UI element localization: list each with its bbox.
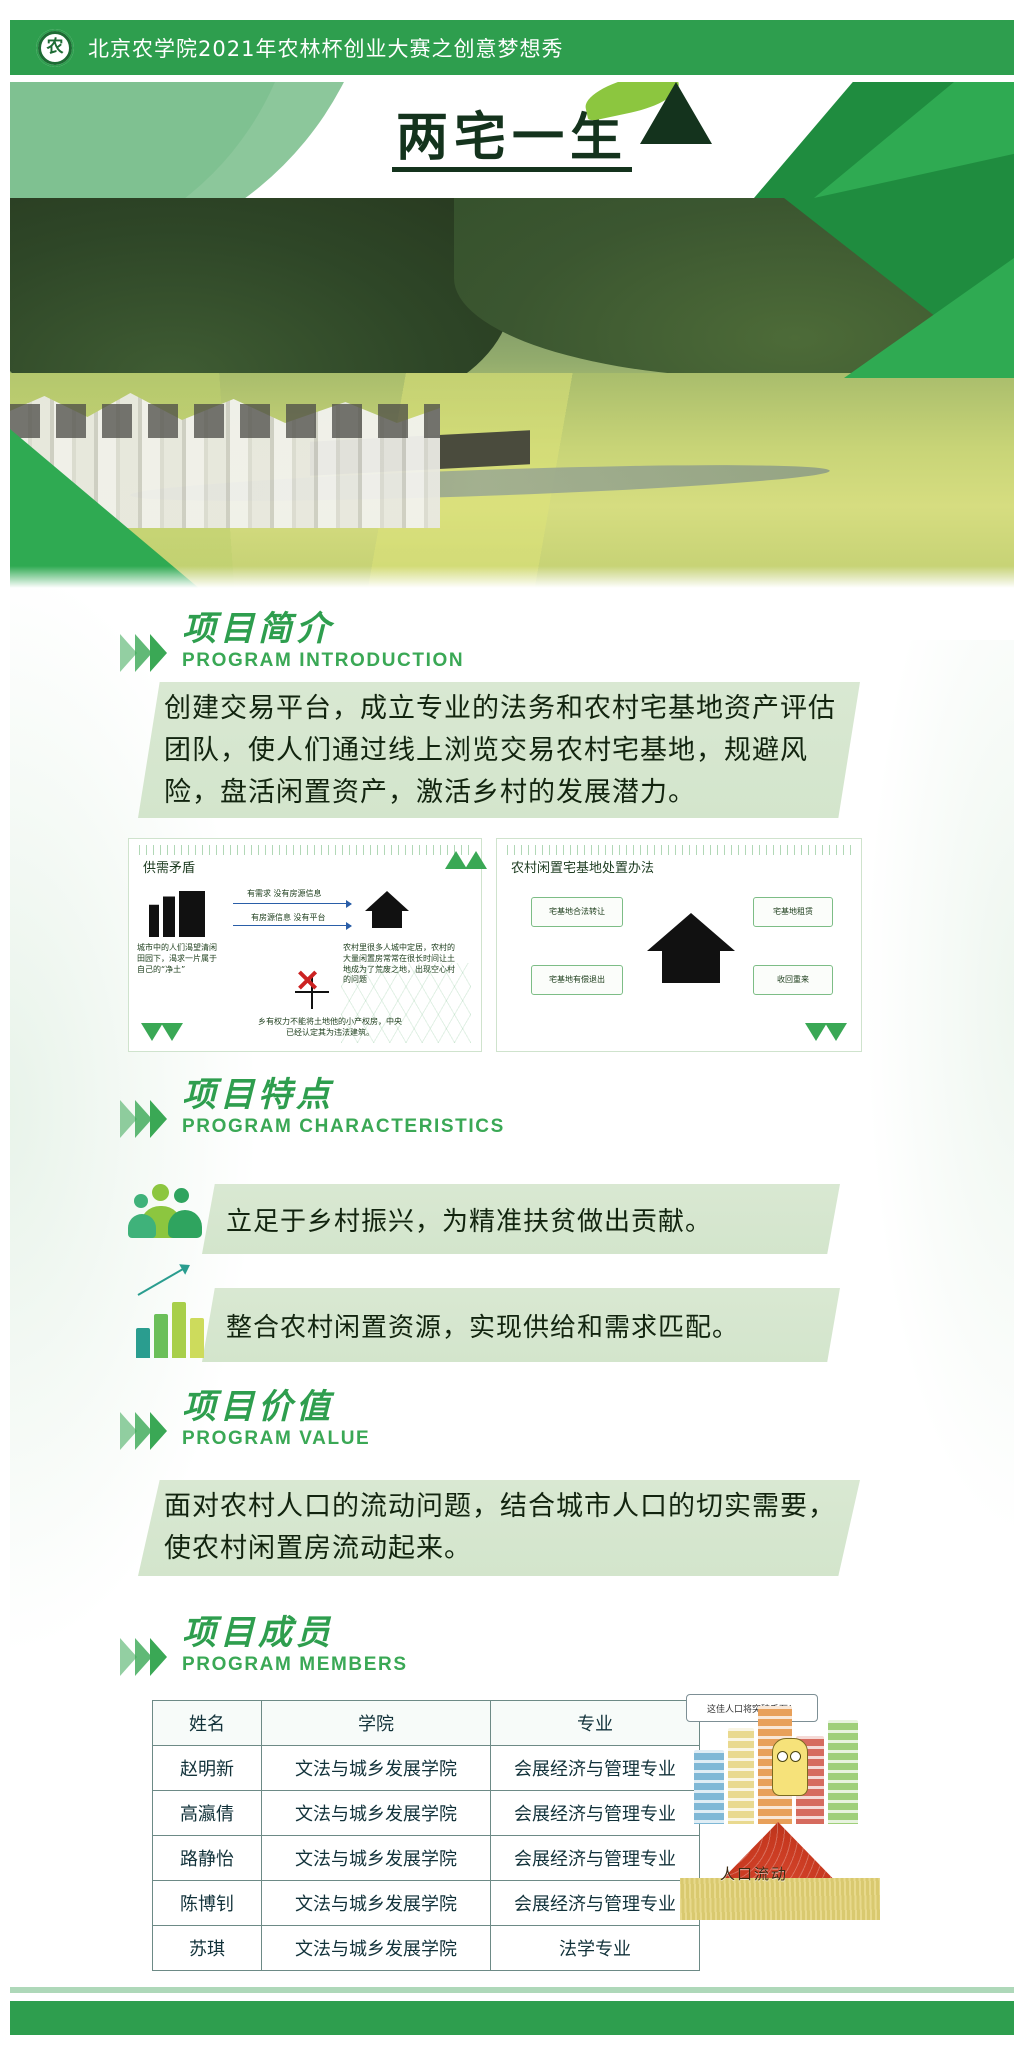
page-header: 农 北京农学院2021年农林杯创业大赛之创意梦想秀	[10, 20, 1014, 75]
arrow-demand	[233, 903, 351, 904]
characteristic-text-1: 立足于乡村振兴，为精准扶贫做出贡献。	[226, 1201, 712, 1238]
building-5	[828, 1720, 858, 1824]
corner-triangle-bl2	[161, 1023, 183, 1041]
diagram-tick-rule	[139, 845, 471, 855]
photo-roofs	[10, 404, 440, 438]
arrow-supply	[233, 925, 351, 926]
right-gutter	[1014, 0, 1024, 2055]
column-header-college: 学院	[262, 1701, 491, 1746]
hero-banner: 两宅一生	[10, 82, 1014, 198]
cell-college: 文法与城乡发展学院	[262, 1836, 491, 1881]
diagram-right-title: 农村闲置宅基地处置办法	[511, 857, 654, 876]
section-heading-value: 项目价值 PROGRAM VALUE	[118, 1390, 370, 1458]
table-header-row: 姓名 学院 专业	[153, 1701, 700, 1746]
section-heading-members: 项目成员 PROGRAM MEMBERS	[118, 1616, 408, 1684]
disposal-box-bottom-right: 收回重来	[753, 965, 833, 995]
disposal-box-top-left: 宅基地合法转让	[531, 897, 623, 927]
disposal-box-bottom-left: 宅基地有偿退出	[531, 965, 623, 995]
cell-major: 会展经济与管理专业	[491, 1881, 700, 1926]
table-row: 苏琪 文法与城乡发展学院 法学专业	[153, 1926, 700, 1971]
chevron-double-right-icon-2	[118, 1092, 176, 1146]
heading-en-characteristics: PROGRAM CHARACTERISTICS	[182, 1116, 505, 1138]
heading-en-value: PROGRAM VALUE	[182, 1428, 370, 1450]
section-heading-characteristics: 项目特点 PROGRAM CHARACTERISTICS	[118, 1078, 505, 1146]
house-roof-icon	[640, 82, 712, 144]
cell-major: 会展经济与管理专业	[491, 1791, 700, 1836]
heading-en-members: PROGRAM MEMBERS	[182, 1654, 408, 1676]
population-flow-illustration: 这佳人口将突破千万！ 人口流动	[680, 1690, 880, 1920]
diagram-disposal-methods: 农村闲置宅基地处置办法 宅基地合法转让 宅基地租赁 宅基地有偿退出 收回重来	[496, 838, 862, 1052]
table-row: 赵明新 文法与城乡发展学院 会展经济与管理专业	[153, 1746, 700, 1791]
cell-college: 文法与城乡发展学院	[262, 1746, 491, 1791]
logo-glyph: 农	[36, 29, 74, 67]
characteristic-item-2: 整合农村闲置资源，实现供给和需求匹配。	[128, 1282, 840, 1368]
diagram-label-city: 城市中的人们渴望清闲田园下，渴求一片属于自己的“净土”	[137, 943, 223, 975]
chevron-double-right-icon-3	[118, 1404, 176, 1458]
illustration-grass	[680, 1878, 880, 1920]
corner-triangle-tr	[445, 851, 467, 869]
cell-name: 赵明新	[153, 1746, 262, 1791]
house-body	[372, 911, 401, 928]
diagram-label-bottom: 乡有权力不能将土地他的小产权房，中央已经认定其为违法建筑。	[255, 1017, 405, 1039]
heading-en-introduction: PROGRAM INTRODUCTION	[182, 650, 464, 672]
people-icon	[128, 1180, 220, 1258]
city-buildings-icon	[149, 891, 205, 937]
corner-triangle-tr2	[465, 851, 487, 869]
table-row: 路静怡 文法与城乡发展学院 会展经济与管理专业	[153, 1836, 700, 1881]
chevron-double-right-icon	[118, 626, 176, 680]
corner-triangle-bl	[141, 1023, 163, 1041]
characteristic-text-2: 整合农村闲置资源，实现供给和需求匹配。	[226, 1307, 739, 1344]
footer-accent-bar	[10, 1987, 1014, 1993]
cell-major: 会展经济与管理专业	[491, 1836, 700, 1881]
cell-college: 文法与城乡发展学院	[262, 1791, 491, 1836]
heading-cn-value: 项目价值	[182, 1390, 370, 1426]
cell-name: 路静怡	[153, 1836, 262, 1881]
cross-out-icon: ✕	[295, 967, 320, 997]
heading-text-group-2: 项目特点 PROGRAM CHARACTERISTICS	[182, 1078, 505, 1138]
poster-root: 农 北京农学院2021年农林杯创业大赛之创意梦想秀 两宅一生	[0, 0, 1024, 2055]
diagram-left-title: 供需矛盾	[143, 857, 195, 876]
heading-cn-introduction: 项目简介	[182, 612, 464, 648]
photo-bottom-fade	[10, 566, 1014, 588]
heading-cn-characteristics: 项目特点	[182, 1078, 505, 1114]
section-heading-introduction: 项目简介 PROGRAM INTRODUCTION	[118, 612, 464, 680]
cell-name: 陈博钊	[153, 1881, 262, 1926]
table-row: 陈博钊 文法与城乡发展学院 会展经济与管理专业	[153, 1881, 700, 1926]
corner-triangle-br	[825, 1023, 847, 1041]
left-gutter	[0, 0, 10, 2055]
diagram-arrow-label-top: 有需求 没有房源信息	[247, 889, 322, 900]
illustration-speech-bubble: 这佳人口将突破千万！	[686, 1694, 818, 1722]
disposal-box-top-right: 宅基地租赁	[753, 897, 833, 927]
table-row: 高瀛倩 文法与城乡发展学院 会展经济与管理专业	[153, 1791, 700, 1836]
diagram-label-rural: 农村里很多人城中定居，农村的大量闲置房常常在很长时间让土地成为了荒废之地，出现空…	[343, 943, 459, 986]
heading-text-group: 项目简介 PROGRAM INTRODUCTION	[182, 612, 464, 672]
growth-chart-icon	[128, 1286, 220, 1364]
characteristic-item-1: 立足于乡村振兴，为精准扶贫做出贡献。	[128, 1178, 840, 1260]
members-table: 姓名 学院 专业 赵明新 文法与城乡发展学院 会展经济与管理专业 高瀛倩 文法与…	[152, 1700, 700, 1971]
background-swoosh-right	[864, 640, 1024, 1540]
brand-title: 两宅一生	[396, 112, 628, 164]
paragraph-introduction: 创建交易平台，成立专业的法务和农村宅基地资产评估团队，使人们通过线上浏览交易农村…	[138, 682, 860, 818]
diagram-arrow-label-mid: 有房源信息 没有平台	[251, 913, 326, 924]
cell-major: 会展经济与管理专业	[491, 1746, 700, 1791]
column-header-major: 专业	[491, 1701, 700, 1746]
diagram-tick-rule-right	[507, 845, 851, 855]
cell-major: 法学专业	[491, 1926, 700, 1971]
cell-name: 高瀛倩	[153, 1791, 262, 1836]
corner-triangle-br2	[805, 1023, 827, 1041]
heading-cn-members: 项目成员	[182, 1616, 408, 1652]
building-1	[694, 1750, 724, 1824]
cell-college: 文法与城乡发展学院	[262, 1926, 491, 1971]
house-roof-center	[647, 913, 735, 951]
header-title: 北京农学院2021年农林杯创业大赛之创意梦想秀	[88, 33, 563, 63]
leaf-icon	[582, 82, 683, 122]
cell-college: 文法与城乡发展学院	[262, 1881, 491, 1926]
column-header-name: 姓名	[153, 1701, 262, 1746]
hero-photo	[10, 198, 1014, 588]
paragraph-value: 面对农村人口的流动问题，结合城市人口的切实需要，使农村闲置房流动起来。	[138, 1480, 860, 1576]
illustration-caption: 人口流动	[720, 1863, 788, 1884]
mascot-icon	[772, 1738, 808, 1796]
chevron-double-right-icon-4	[118, 1630, 176, 1684]
page-footer	[10, 2001, 1014, 2035]
diagram-supply-demand: 供需矛盾 城市中的人们渴望清闲田园下，渴求一片属于自己的“净土” 农村里很多人城…	[128, 838, 482, 1052]
cell-name: 苏琪	[153, 1926, 262, 1971]
house-body-center	[662, 951, 720, 983]
paragraph-text-value: 面对农村人口的流动问题，结合城市人口的切实需要，使农村闲置房流动起来。	[138, 1480, 860, 1576]
paragraph-text-introduction: 创建交易平台，成立专业的法务和农村宅基地资产评估团队，使人们通过线上浏览交易农村…	[138, 682, 860, 820]
house-roof	[365, 891, 409, 911]
university-logo-icon: 农	[36, 29, 74, 67]
heading-text-group-3: 项目价值 PROGRAM VALUE	[182, 1390, 370, 1450]
building-2	[728, 1728, 754, 1824]
heading-text-group-4: 项目成员 PROGRAM MEMBERS	[182, 1616, 408, 1676]
